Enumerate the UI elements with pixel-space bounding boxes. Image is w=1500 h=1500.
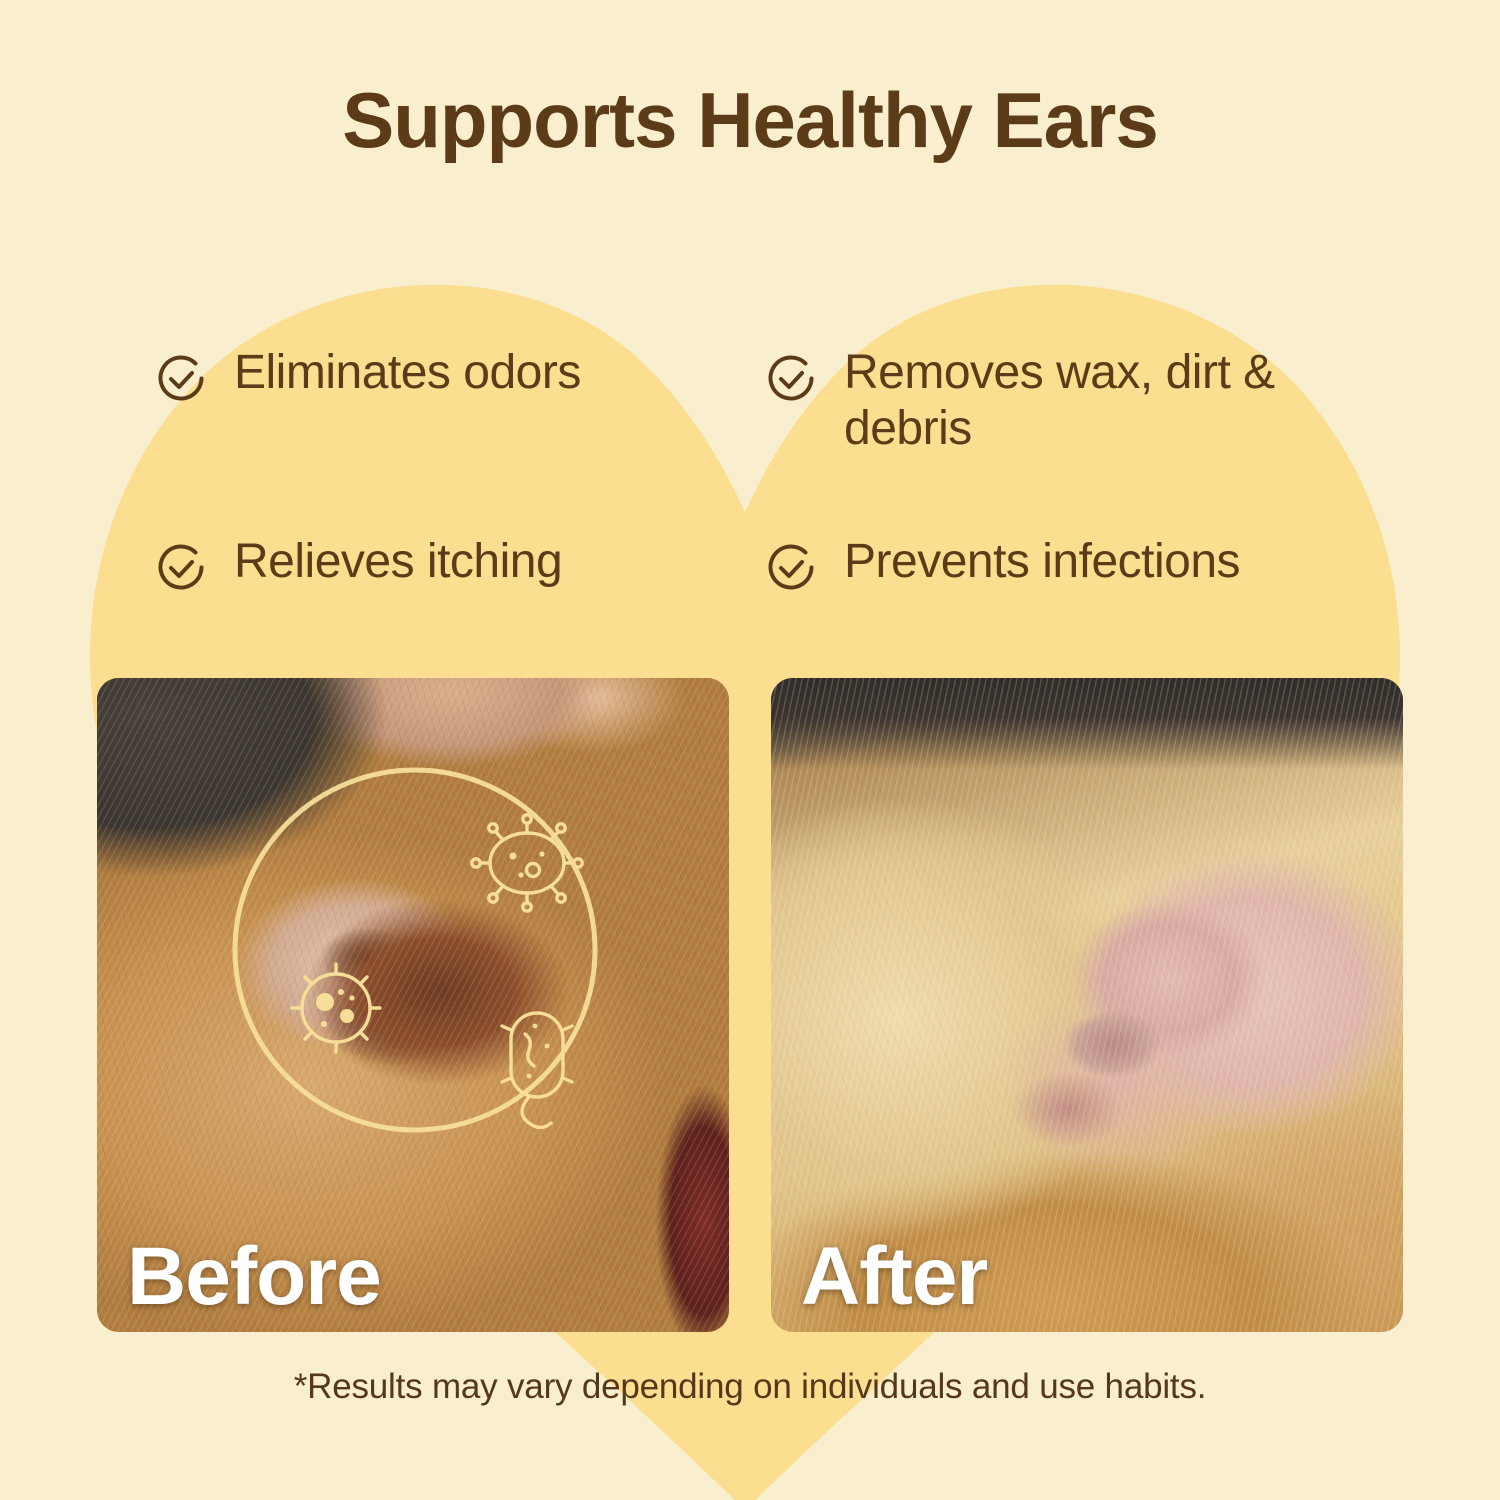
benefit-label: Removes wax, dirt & debris [844,345,1380,456]
before-label: Before [127,1236,381,1318]
virus-icon [472,815,582,911]
benefit-item-eliminates-odors: Eliminates odors [150,345,760,456]
check-circle-icon [760,538,822,605]
before-after-comparison: Before After [97,678,1403,1332]
benefit-label: Relieves itching [234,534,562,590]
after-photo-panel: After [771,678,1403,1332]
check-circle-icon [760,349,822,416]
benefit-item-relieves-itching: Relieves itching [150,534,760,605]
bacteria-cell-icon [292,964,380,1052]
benefit-item-removes-wax-dirt-debris: Removes wax, dirt & debris [760,345,1380,456]
benefit-label: Eliminates odors [234,345,581,401]
bacillus-icon [502,1013,572,1128]
after-label: After [801,1236,987,1318]
disclaimer-footnote: *Results may vary depending on individua… [0,1367,1500,1407]
benefit-label: Prevents infections [844,534,1240,590]
check-circle-icon [150,349,212,416]
highlight-circle [235,770,595,1130]
check-circle-icon [150,538,212,605]
benefit-item-prevents-infections: Prevents infections [760,534,1380,605]
page-title: Supports Healthy Ears [0,78,1500,162]
benefits-list: Eliminates odors Removes wax, dirt & deb… [150,345,1380,605]
before-photo-panel: Before [97,678,729,1332]
